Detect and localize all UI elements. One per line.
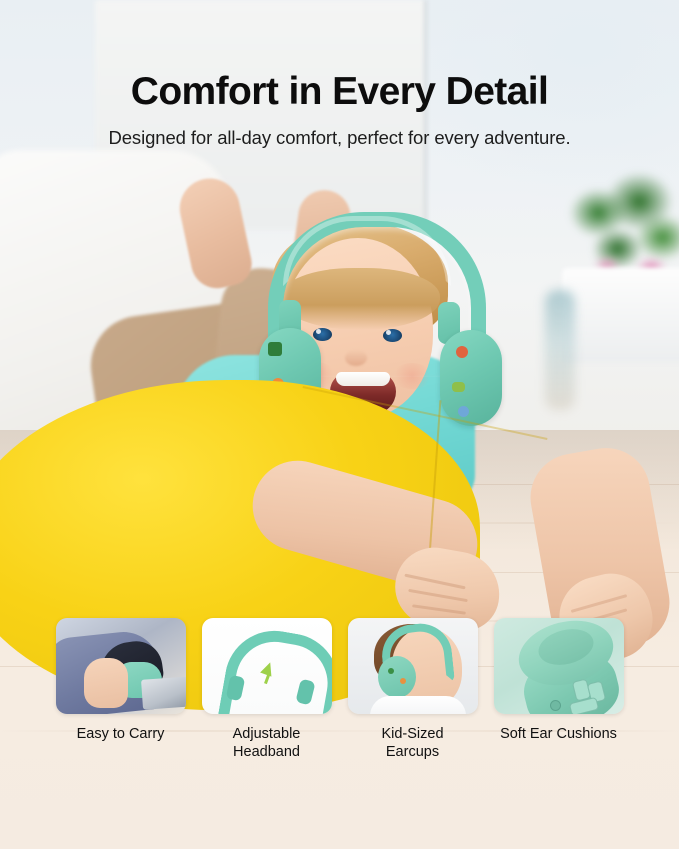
- feature-image-adjustable-headband: [202, 618, 332, 714]
- feature-item-adjustable-headband[interactable]: Adjustable Headband: [202, 618, 332, 778]
- feature-label-soft-ear-cushions: Soft Ear Cushions: [479, 725, 639, 743]
- hero-photo-scene: [0, 150, 679, 670]
- feature-item-soft-ear-cushions[interactable]: Soft Ear Cushions: [494, 618, 624, 778]
- feature-label-kid-sized-earcups: Kid-Sized Earcups: [381, 725, 443, 761]
- feature-label-adjustable-headband: Adjustable Headband: [233, 725, 301, 761]
- feature-image-kid-sized-earcups: [348, 618, 478, 714]
- earcup-sticker-dinosaur: [268, 342, 282, 356]
- page-subtitle: Designed for all-day comfort, perfect fo…: [0, 113, 679, 149]
- feature-image-soft-ear-cushions: [494, 618, 624, 714]
- feature-item-easy-to-carry[interactable]: Easy to Carry: [56, 618, 186, 778]
- feature-image-easy-to-carry: [56, 618, 186, 714]
- earcup-sticker-red: [456, 346, 468, 358]
- page-title: Comfort in Every Detail: [0, 0, 679, 113]
- child-foot-left: [174, 173, 256, 293]
- feature-label-easy-to-carry: Easy to Carry: [77, 725, 165, 743]
- feature-card-list: Easy to Carry Adjustable Headband Kid-Si…: [0, 618, 679, 778]
- header-block: Comfort in Every Detail Designed for all…: [0, 0, 679, 149]
- feature-item-kid-sized-earcups[interactable]: Kid-Sized Earcups: [348, 618, 478, 778]
- product-feature-banner: Comfort in Every Detail Designed for all…: [0, 0, 679, 849]
